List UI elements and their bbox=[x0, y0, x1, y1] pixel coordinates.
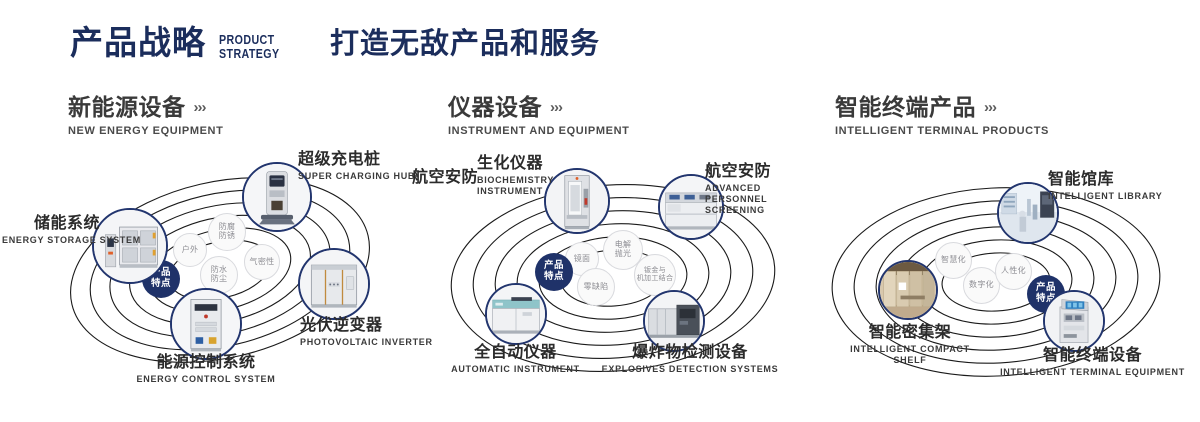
node-energy-control-system[interactable] bbox=[170, 288, 242, 360]
section-title-cn: 仪器设备››› bbox=[448, 96, 629, 119]
node-label-cn: 爆炸物检测设备 bbox=[585, 345, 795, 362]
node-label-en: SUPER CHARGING HUB bbox=[298, 171, 415, 182]
node-label-cn: 储能系统 bbox=[2, 216, 100, 233]
feature-bubble: 零缺陷 bbox=[577, 268, 615, 306]
page-slogan: 打造无敌产品和服务 bbox=[330, 30, 600, 59]
automatic-instrument-icon bbox=[487, 285, 545, 343]
core-bubble-label: 特点 bbox=[544, 272, 564, 283]
node-label-intelligent-terminal-equipment: 智能终端设备 INTELLIGENT TERMINAL EQUIPMENT bbox=[985, 348, 1200, 378]
section-title-new-energy: 新能源设备››› NEW ENERGY EQUIPMENT bbox=[68, 96, 223, 137]
section-title-cn: 智能终端产品››› bbox=[835, 96, 1049, 119]
node-label-en: INTELLIGENT COMPACT SHELF bbox=[835, 344, 985, 367]
node-photovoltaic-inverter[interactable] bbox=[298, 248, 370, 320]
node-label-cn: 智能终端设备 bbox=[985, 348, 1200, 365]
section-title-instrument: 仪器设备››› INSTRUMENT AND EQUIPMENT bbox=[448, 96, 629, 137]
node-label-en: ENERGY CONTROL SYSTEM bbox=[92, 374, 320, 385]
node-label-energy-storage-system: 储能系统 ENERGY STORAGE SYSTEM bbox=[2, 216, 100, 246]
node-label-en: INTELLIGENT LIBRARY bbox=[1048, 191, 1162, 202]
node-label-en: ADVANCED PERSONNEL SCREENING bbox=[705, 183, 795, 217]
feature-bubble-label: 钣金与 bbox=[637, 267, 674, 275]
chevron-right-triple-icon: ››› bbox=[194, 100, 206, 115]
node-label-cn: 智能馆库 bbox=[1048, 172, 1162, 189]
cluster-instrument: 镜面 电解 抛光 零缺陷 钣金与 机加工结合 产品 特点 航空安防 bbox=[415, 150, 810, 400]
node-label-photovoltaic-inverter: 光伏逆变器 PHOTOVOLTAIC INVERTER bbox=[300, 318, 433, 348]
cluster-intelligent-terminal: 智慧化 数字化 人性化 产品 特点 bbox=[800, 150, 1200, 400]
pv-inverter-cabinet-icon bbox=[300, 250, 368, 318]
page-title-english: PRODUCT STRATEGY bbox=[219, 33, 280, 61]
feature-bubble: 防腐 防锈 bbox=[208, 213, 246, 251]
energy-storage-cabinet-icon bbox=[94, 210, 166, 282]
feature-bubble-label: 镜面 bbox=[574, 255, 591, 264]
node-label-cn: 能源控制系统 bbox=[92, 355, 320, 372]
control-cabinet-icon bbox=[172, 290, 240, 358]
node-explosives-detection-systems[interactable] bbox=[643, 290, 705, 352]
node-label-advanced-personnel-screening: 航空安防 ADVANCED PERSONNEL SCREENING bbox=[705, 164, 795, 217]
section-title-intelligent-terminal: 智能终端产品››› INTELLIGENT TERMINAL PRODUCTS bbox=[835, 96, 1049, 137]
node-label-en: INTELLIGENT TERMINAL EQUIPMENT bbox=[985, 367, 1200, 378]
section-title-cn-text: 新能源设备 bbox=[68, 94, 186, 120]
feature-bubble-label: 机加工结合 bbox=[637, 275, 674, 283]
feature-bubble-label: 户外 bbox=[182, 246, 199, 255]
section-title-cn-text: 智能终端产品 bbox=[835, 94, 976, 120]
node-label-energy-control-system: 能源控制系统 ENERGY CONTROL SYSTEM bbox=[92, 355, 320, 385]
page-header: 产品战略 PRODUCT STRATEGY 打造无敌产品和服务 bbox=[0, 0, 1200, 90]
feature-bubble: 户外 bbox=[173, 233, 207, 267]
section-title-cn-text: 仪器设备 bbox=[448, 94, 542, 120]
page-title-english-line1: PRODUCT bbox=[219, 33, 280, 47]
section-title-cn: 新能源设备››› bbox=[68, 96, 223, 119]
node-intelligent-compact-shelf[interactable] bbox=[878, 260, 938, 320]
section-title-en: INTELLIGENT TERMINAL PRODUCTS bbox=[835, 126, 1049, 137]
feature-bubble-label: 智慧化 bbox=[941, 256, 966, 265]
feature-bubble-label: 防锈 bbox=[219, 232, 236, 241]
node-energy-storage-system[interactable] bbox=[92, 208, 168, 284]
feature-bubble-label: 气密性 bbox=[250, 258, 275, 267]
page-title: 产品战略 bbox=[70, 26, 206, 59]
product-strategy-infographic: 产品战略 PRODUCT STRATEGY 打造无敌产品和服务 新能源设备›››… bbox=[0, 0, 1200, 422]
compact-shelf-icon bbox=[880, 262, 936, 318]
node-label-explosives-detection-systems: 爆炸物检测设备 EXPLOSIVES DETECTION SYSTEMS bbox=[585, 345, 795, 375]
feature-bubble-label: 抛光 bbox=[615, 250, 632, 259]
chevron-right-triple-icon: ››› bbox=[550, 100, 562, 115]
node-automatic-instrument[interactable] bbox=[485, 283, 547, 345]
node-intelligent-terminal-equipment[interactable] bbox=[1043, 290, 1105, 352]
terminal-kiosk-icon bbox=[1045, 292, 1103, 350]
node-label-en: EXPLOSIVES DETECTION SYSTEMS bbox=[585, 364, 795, 375]
node-label-cn: 生化仪器 bbox=[477, 156, 543, 173]
cluster-new-energy: 户外 防腐 防锈 防水 防尘 气密性 产品 特点 bbox=[30, 150, 420, 400]
feature-bubble-label: 防尘 bbox=[211, 275, 228, 284]
node-label-cn: 航空安防 bbox=[705, 164, 795, 181]
section-title-en: NEW ENERGY EQUIPMENT bbox=[68, 126, 223, 137]
node-label-aviation-security-extra: 航空安防 bbox=[412, 170, 478, 187]
page-title-english-line2: STRATEGY bbox=[219, 47, 280, 61]
node-label-biochemistry-instrument: 生化仪器 BIOCHEMISTRY INSTRUMENT bbox=[477, 156, 543, 197]
node-label-cn: 智能密集架 bbox=[820, 325, 1000, 342]
feature-bubble-label: 人性化 bbox=[1001, 267, 1026, 276]
node-label-en: ENERGY STORAGE SYSTEM bbox=[2, 235, 100, 246]
feature-bubble: 气密性 bbox=[244, 244, 280, 280]
chevron-right-triple-icon: ››› bbox=[984, 100, 996, 115]
node-label-en: BIOCHEMISTRY INSTRUMENT bbox=[477, 175, 535, 198]
node-label-intelligent-compact-shelf: 智能密集架 INTELLIGENT COMPACT SHELF bbox=[820, 325, 1000, 366]
node-label-cn: 超级充电桩 bbox=[298, 152, 415, 169]
feature-bubble-label: 数字化 bbox=[969, 281, 994, 290]
node-label-cn: 光伏逆变器 bbox=[300, 318, 433, 335]
feature-bubble-label: 零缺陷 bbox=[584, 283, 609, 292]
biochemistry-analyzer-icon bbox=[546, 170, 608, 232]
feature-bubble: 人性化 bbox=[995, 253, 1032, 290]
node-label-super-charging-hub: 超级充电桩 SUPER CHARGING HUB bbox=[298, 152, 415, 182]
explosives-detector-icon bbox=[645, 292, 703, 350]
section-title-en: INSTRUMENT AND EQUIPMENT bbox=[448, 126, 629, 137]
node-label-cn: 航空安防 bbox=[412, 170, 478, 187]
node-label-intelligent-library: 智能馆库 INTELLIGENT LIBRARY bbox=[1048, 172, 1162, 202]
